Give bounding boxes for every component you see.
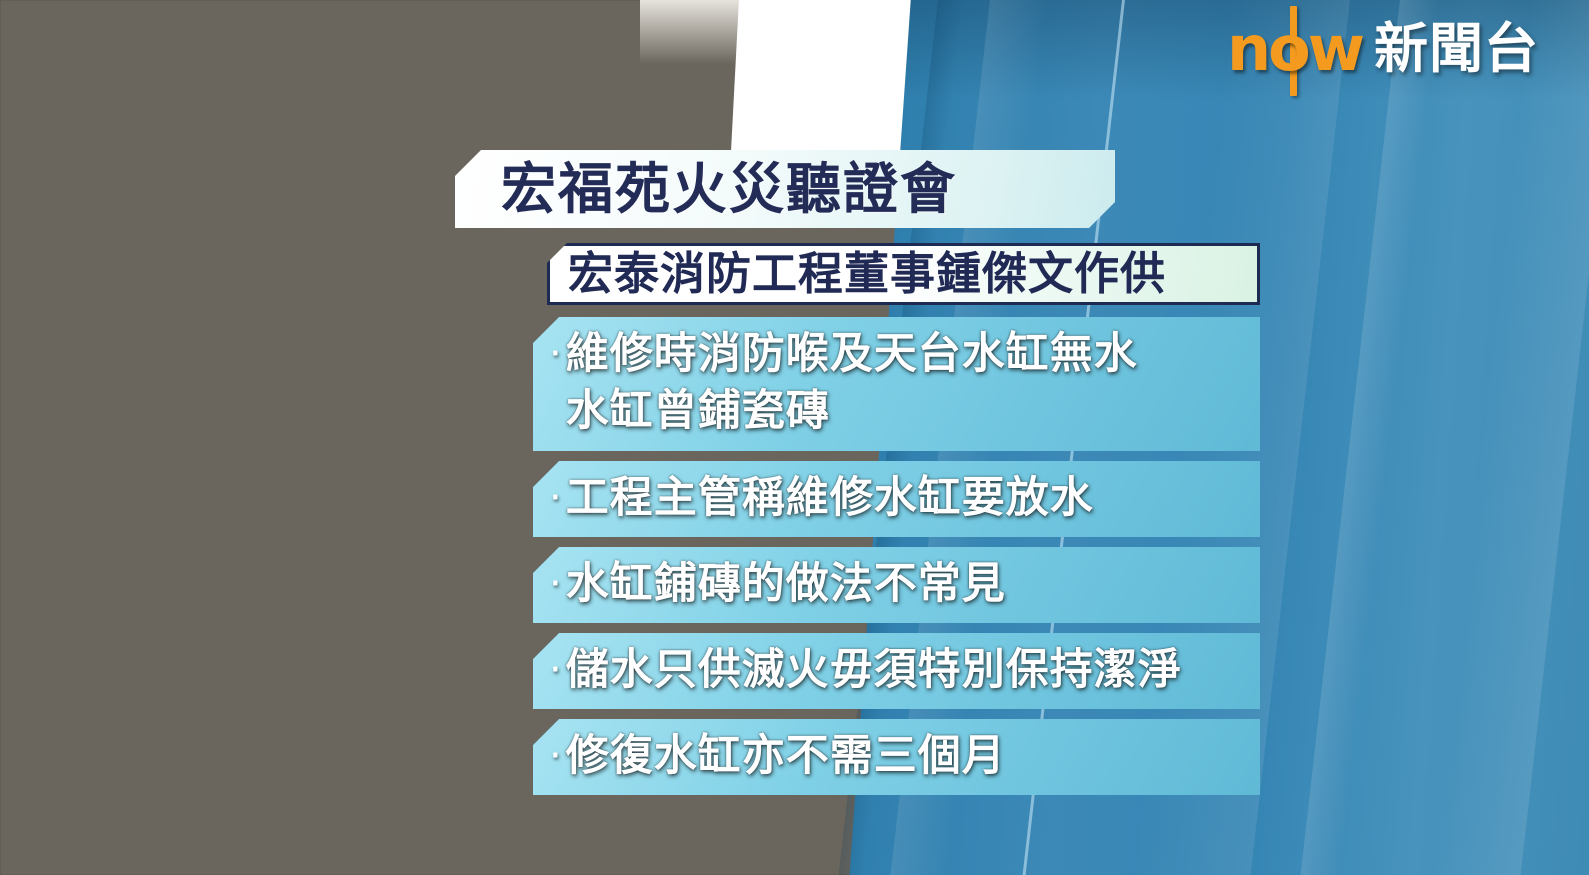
list-item-text: 維修時消防喉及天台水缸無水 水缸曾鋪瓷磚 bbox=[566, 326, 1138, 440]
subtitle-text: 宏泰消防工程董事鍾傑文作供 bbox=[568, 250, 1166, 298]
bullet-marker-icon: · bbox=[549, 728, 562, 784]
headline-banner: 宏福苑火災聽證會 bbox=[455, 150, 1115, 228]
bullet-marker-icon: · bbox=[549, 642, 562, 698]
list-item: · 儲水只供滅火毋須特別保持潔淨 bbox=[533, 633, 1260, 709]
list-item: · 維修時消防喉及天台水缸無水 水缸曾鋪瓷磚 bbox=[533, 317, 1260, 451]
list-item: · 修復水缸亦不需三個月 bbox=[533, 719, 1260, 795]
list-item: · 工程主管稱維修水缸要放水 bbox=[533, 461, 1260, 537]
subtitle-bar: 宏泰消防工程董事鍾傑文作供 bbox=[547, 243, 1260, 305]
now-wordmark: now bbox=[1225, 18, 1364, 80]
bullet-marker-icon: · bbox=[549, 326, 562, 383]
panel-streak bbox=[1421, 0, 1589, 875]
list-item-text: 工程主管稱維修水缸要放水 bbox=[566, 470, 1094, 526]
headline-text: 宏福苑火災聽證會 bbox=[501, 160, 957, 218]
list-item: · 水缸鋪磚的做法不常見 bbox=[533, 547, 1260, 623]
bullet-list: · 維修時消防喉及天台水缸無水 水缸曾鋪瓷磚 · 工程主管稱維修水缸要放水 · … bbox=[533, 317, 1275, 795]
lower-third-graphic: 宏福苑火災聽證會 宏泰消防工程董事鍾傑文作供 · 維修時消防喉及天台水缸無水 水… bbox=[455, 150, 1275, 795]
list-item-text: 修復水缸亦不需三個月 bbox=[566, 728, 1006, 784]
list-item-text: 儲水只供滅火毋須特別保持潔淨 bbox=[566, 642, 1182, 698]
list-item-text: 水缸鋪磚的做法不常見 bbox=[566, 556, 1006, 612]
now-wordmark-text: now bbox=[1227, 12, 1362, 85]
bullet-marker-icon: · bbox=[549, 556, 562, 612]
bullet-marker-icon: · bbox=[549, 470, 562, 526]
channel-name-chinese: 新聞台 bbox=[1374, 21, 1539, 77]
channel-logo: now 新聞台 bbox=[1225, 18, 1539, 80]
broadcast-frame: now 新聞台 宏福苑火災聽證會 宏泰消防工程董事鍾傑文作供 · 維修時消防喉及… bbox=[0, 0, 1589, 875]
